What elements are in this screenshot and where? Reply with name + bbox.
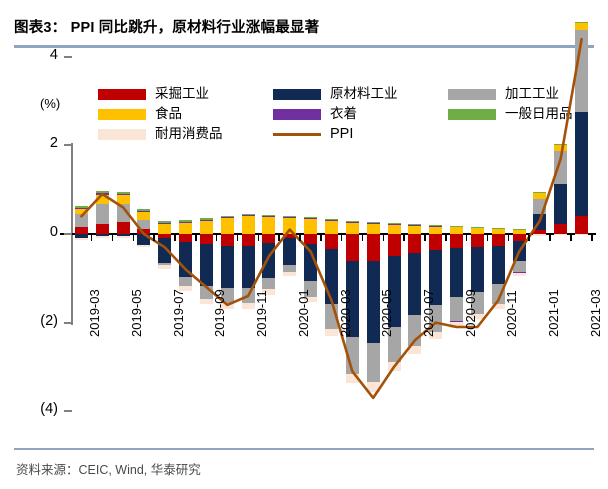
x-axis-tick-label: 2021-03 [588, 289, 603, 337]
x-axis-tick [153, 235, 155, 241]
x-axis-tick [174, 235, 176, 241]
x-axis-tick [133, 235, 135, 241]
x-axis-tick [320, 235, 322, 241]
x-axis-tick [591, 235, 593, 241]
x-axis-tick-label: 2020-11 [504, 290, 519, 337]
x-axis-tick [403, 235, 405, 241]
x-axis-tick [91, 235, 93, 241]
x-axis-tick-label: 2020-03 [338, 289, 353, 337]
x-axis-tick [362, 235, 364, 241]
x-axis-tick [237, 235, 239, 241]
x-axis-tick [487, 235, 489, 241]
x-axis-tick-label: 2019-11 [254, 290, 269, 337]
x-axis-tick [445, 235, 447, 241]
x-axis-tick [195, 235, 197, 241]
plot-area [0, 0, 608, 489]
x-axis-tick [424, 235, 426, 241]
chart-figure: 图表3： PPI 同比跳升，原材料行业涨幅最显著 采掘工业 原材料工业 加工工业… [0, 0, 608, 489]
x-axis-tick-label: 2020-07 [421, 289, 436, 337]
x-axis-tick [466, 235, 468, 241]
ppi-line-series [0, 0, 608, 489]
footer-divider [14, 448, 594, 450]
x-axis-tick-label: 2019-05 [129, 289, 144, 337]
x-axis-tick-label: 2019-03 [87, 289, 102, 337]
x-axis-tick-label: 2020-09 [463, 289, 478, 337]
x-axis-tick [112, 235, 114, 241]
x-axis-tick [528, 235, 530, 241]
x-axis-tick-label: 2019-07 [171, 289, 186, 337]
x-axis-tick [549, 235, 551, 241]
x-axis-tick-label: 2020-05 [379, 289, 394, 337]
x-axis-tick [258, 235, 260, 241]
source-note: 资料来源：CEIC, Wind, 华泰研究 [16, 459, 201, 478]
x-axis-tick [341, 235, 343, 241]
x-axis-tick [383, 235, 385, 241]
x-axis-tick-label: 2021-01 [546, 289, 561, 337]
x-axis-tick [278, 235, 280, 241]
x-axis-tick [508, 235, 510, 241]
x-axis-tick [216, 235, 218, 241]
x-axis-tick-label: 2020-01 [296, 289, 311, 337]
x-axis-tick [570, 235, 572, 241]
x-axis-tick-label: 2019-09 [212, 289, 227, 337]
x-axis-tick [299, 235, 301, 241]
